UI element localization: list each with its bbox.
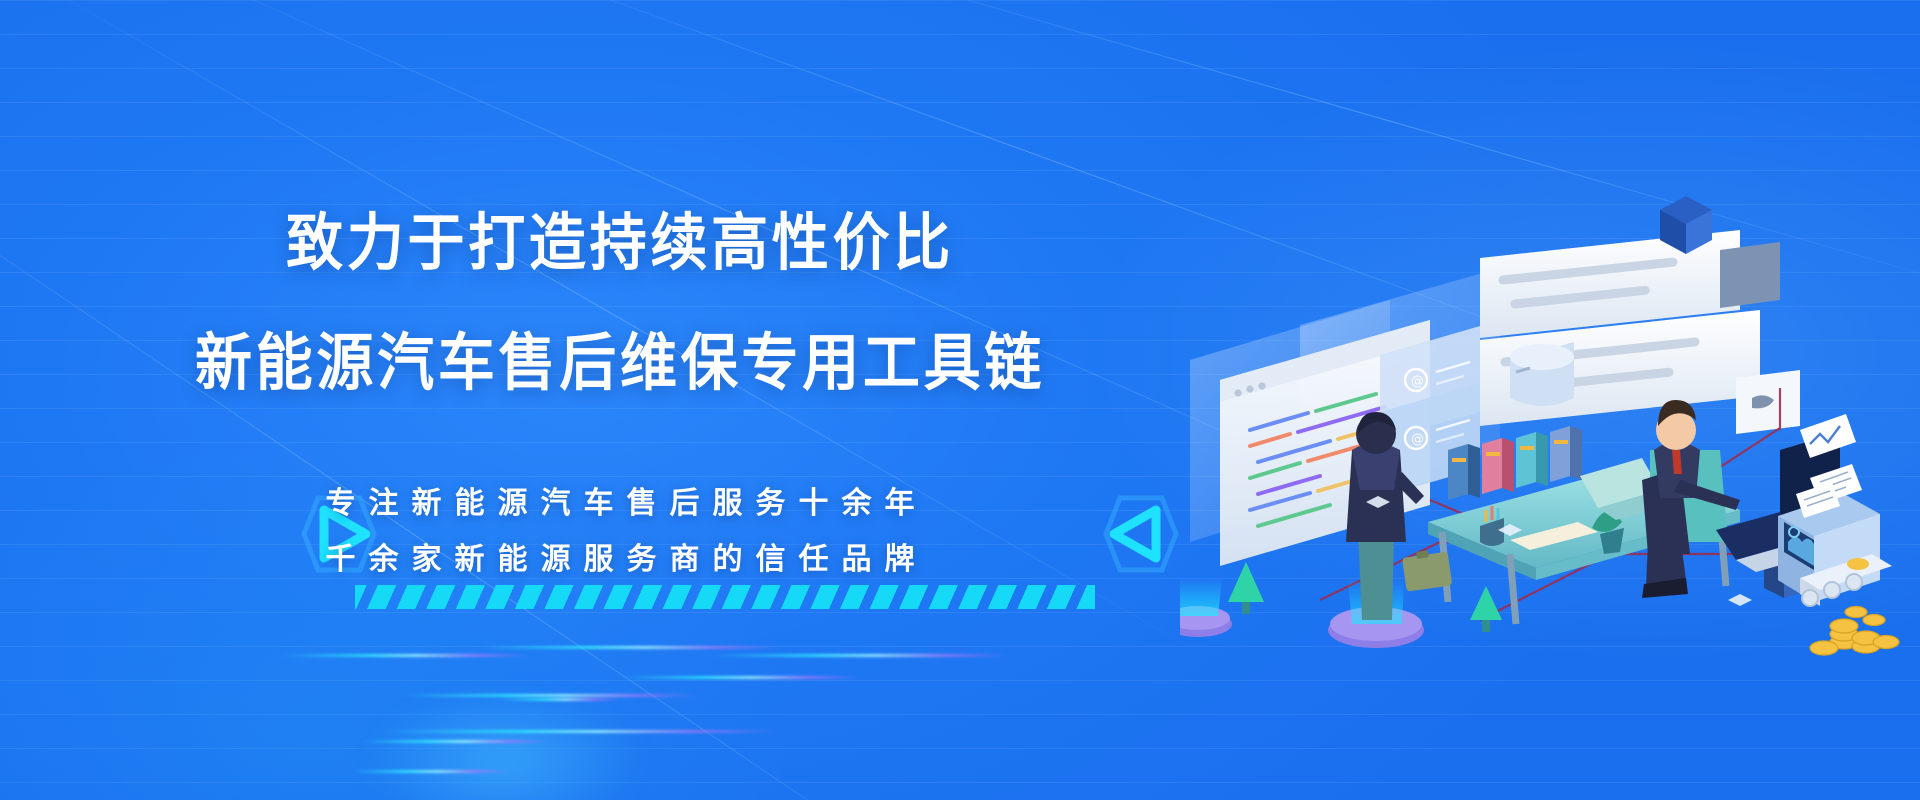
svg-text:@: @ bbox=[1411, 374, 1424, 389]
gold-coin-stack bbox=[1810, 607, 1899, 656]
headline-line-1: 致力于打造持续高性价比 bbox=[50, 212, 1191, 274]
subhead-line-2: 千余家新能源服务商的信任品牌 bbox=[0, 534, 1240, 578]
promo-banner: 致力于打造持续高性价比 新能源汽车售后维保专用工具链 专注新能源汽车售后服务十余… bbox=[0, 0, 1920, 800]
headline-line-2: 新能源汽车售后维保专用工具链 bbox=[50, 332, 1191, 394]
printer-machine-with-documents bbox=[1778, 414, 1892, 614]
isometric-office-illustration: @ @ bbox=[1180, 150, 1920, 710]
hologram-pedestal bbox=[1180, 578, 1232, 637]
svg-text:@: @ bbox=[1411, 432, 1424, 447]
pine-tree-decor bbox=[1228, 562, 1264, 614]
copy-block: 致力于打造持续高性价比 新能源汽车售后维保专用工具链 专注新能源汽车售后服务十余… bbox=[0, 0, 1240, 800]
data-cylinder bbox=[1510, 342, 1574, 406]
bird-badge-card bbox=[1736, 370, 1800, 434]
diagonal-stripe-bar bbox=[355, 585, 1095, 609]
subhead-line-1: 专注新能源汽车售后服务十余年 bbox=[0, 478, 1240, 522]
pine-tree-decor bbox=[1470, 586, 1502, 632]
